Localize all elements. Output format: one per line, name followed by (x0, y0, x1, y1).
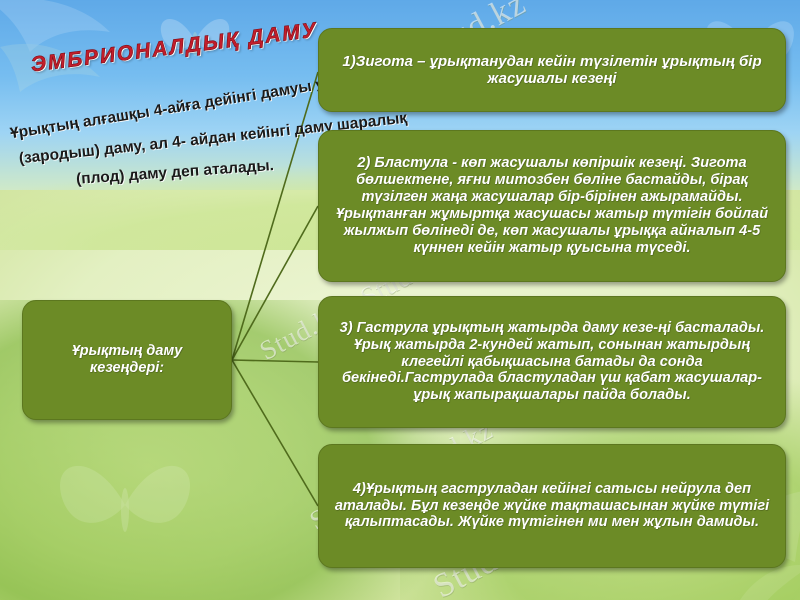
title-block: ЭМБРИОНАЛДЫҚ ДАМУ Ұрықтың алғашқы 4-айға… (6, 18, 336, 188)
stage-box-blastula[interactable]: 2) Бластула - көп жасушалы көпіршік кезе… (318, 130, 786, 282)
stage-box-zygote[interactable]: 1)Зигота – ұрықтанудан кейін түзілетін ұ… (318, 28, 786, 112)
stage-box-gastrula[interactable]: 3) Гаструла ұрықтың жатырда даму кезе-ңі… (318, 296, 786, 428)
page-title: ЭМБРИОНАЛДЫҚ ДАМУ (30, 18, 320, 77)
slide: Stud.kz Stud.kz - Stud.kz Stud.kz - Stud… (0, 0, 800, 600)
subtitle-line-3: (плод) даму деп аталады. (76, 157, 275, 189)
root-box-stages[interactable]: Ұрықтың даму кезеңдері: (22, 300, 232, 420)
stage-box-neurula[interactable]: 4)Ұрықтың гаструладан кейінгі сатысы ней… (318, 444, 786, 568)
